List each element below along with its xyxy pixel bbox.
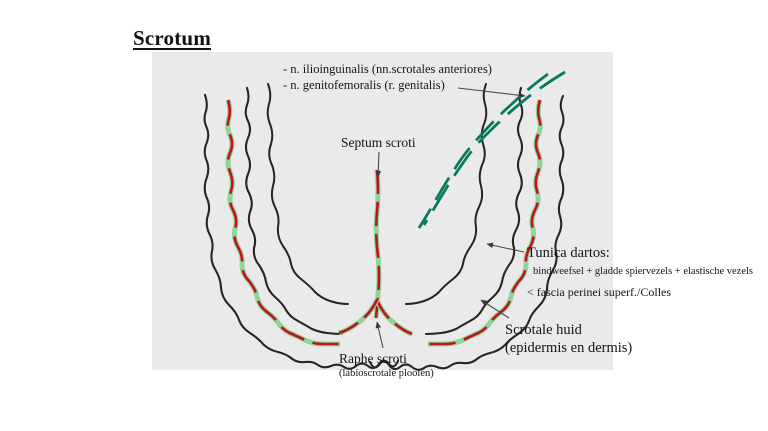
septum-scroti-label: Septum scroti bbox=[341, 135, 416, 151]
tunica-dartos-fascia: < fascia perinei superf./Colles bbox=[527, 285, 671, 300]
tunica-dartos-label: Tunica dartos: bbox=[527, 245, 610, 263]
leader-tunica bbox=[487, 244, 524, 252]
nerve-lines bbox=[419, 72, 565, 228]
nerve-label-line2: - n. genitofemoralis (r. genitalis) bbox=[283, 78, 492, 93]
raphe-scroti-sublabel: (labioscrotale plooien) bbox=[339, 368, 434, 381]
raphe-scroti-label: Raphe scroti bbox=[339, 351, 407, 367]
nerve-label-line1: - n. ilioinguinalis (nn.scrotales anteri… bbox=[283, 62, 492, 77]
scrotal-skin-label-group: Scrotale huid (epidermis en dermis) bbox=[505, 322, 632, 357]
scrotal-skin-line2: (epidermis en dermis) bbox=[505, 340, 632, 358]
slide-canvas: Scrotum bbox=[0, 0, 768, 431]
nerve-label-group: - n. ilioinguinalis (nn.scrotales anteri… bbox=[283, 62, 492, 95]
leader-raphe bbox=[377, 322, 383, 348]
tunica-dartos-detail: bindweefsel + gladde spiervezels + elast… bbox=[533, 266, 753, 279]
septum-scroti-line bbox=[339, 170, 412, 334]
scrotal-skin-line1: Scrotale huid bbox=[505, 322, 632, 340]
